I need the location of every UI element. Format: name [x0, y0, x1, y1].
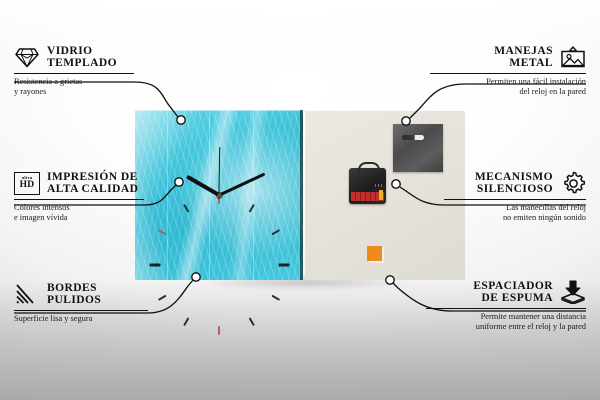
callout-desc-line1: Colores intensos	[14, 203, 144, 213]
hanger-slot	[402, 135, 424, 140]
callout-desc-line2: del reloj en la pared	[430, 87, 586, 97]
callout-title-line1: VIDRIO	[47, 45, 93, 57]
callout-desc-line2: y rayones	[14, 87, 134, 97]
clock-mechanism	[349, 168, 386, 204]
callout-rule	[444, 199, 586, 200]
callout-title-line1: BORDES	[47, 282, 97, 294]
wall-hanger-picture-icon	[560, 44, 586, 70]
diamond-icon	[14, 44, 40, 70]
product-image	[135, 110, 465, 280]
callout-desc-line2: e imagen vívida	[14, 213, 144, 223]
callout-rule	[14, 199, 144, 200]
callout-mecanismo-silencioso[interactable]: MECANISMO SILENCIOSO Las manecillas del …	[444, 170, 586, 223]
callout-desc-line1: Resistencia a grietas	[14, 77, 134, 87]
mechanism-label	[375, 184, 383, 187]
callout-title-line2: DE ESPUMA	[482, 292, 553, 304]
clock-hands	[135, 110, 303, 280]
callout-rule	[14, 310, 148, 311]
callout-title-line2: TEMPLADO	[47, 57, 117, 69]
callout-title-line2: PULIDOS	[47, 294, 101, 306]
callout-vidrio-templado[interactable]: VIDRIO TEMPLADO Resistencia a grietas y …	[14, 44, 134, 97]
clock-face-panel	[135, 110, 303, 280]
second-hand	[218, 147, 220, 199]
callout-desc-line1: Superficie lisa y segura	[14, 314, 148, 324]
callout-bordes-pulidos[interactable]: BORDES PULIDOS Superficie lisa y segura	[14, 281, 148, 324]
callout-rule	[430, 73, 586, 74]
callout-title-line1: ESPACIADOR	[473, 280, 553, 292]
callout-title-line1: MECANISMO	[475, 171, 553, 183]
clock-back-panel	[305, 110, 465, 280]
callout-manejas-metal[interactable]: MANEJAS METAL Permiten una fácil instala…	[430, 44, 586, 97]
callout-desc-line1: Las manecillas del reloj	[444, 203, 586, 213]
callout-rule	[426, 308, 586, 309]
polished-edges-icon	[14, 281, 40, 307]
minute-hand	[218, 173, 265, 197]
battery	[351, 192, 384, 201]
callout-title-line1: MANEJAS	[494, 45, 553, 57]
callout-rule	[14, 73, 134, 74]
hour-hand	[186, 175, 220, 197]
infographic-stage: VIDRIO TEMPLADO Resistencia a grietas y …	[0, 0, 600, 400]
callout-impresion-alta-calidad[interactable]: ultra HD IMPRESIÓN DE ALTA CALIDAD Color…	[14, 170, 144, 223]
callout-title-line2: ALTA CALIDAD	[47, 183, 138, 195]
gear-icon	[560, 170, 586, 196]
callout-desc-line2: no emiten ningún sonido	[444, 213, 586, 223]
mechanism-loop	[358, 162, 380, 173]
hd-badge-main-text: HD	[20, 181, 35, 191]
callout-desc-line1: Permiten una fácil instalación	[430, 77, 586, 87]
callout-title-line2: SILENCIOSO	[477, 183, 553, 195]
foam-spacer	[367, 246, 382, 261]
callout-espaciador-espuma[interactable]: ESPACIADOR DE ESPUMA Permite mantener un…	[426, 279, 586, 332]
callout-title-line1: IMPRESIÓN DE	[47, 171, 138, 183]
metal-hanger-plate	[393, 124, 443, 172]
callout-desc-line1: Permite mantener una distancia	[426, 312, 586, 322]
ultra-hd-badge-icon: ultra HD	[14, 170, 40, 196]
callout-desc-line2: uniforme entre el reloj y la pared	[426, 322, 586, 332]
clock-center-cap	[217, 193, 222, 198]
down-arrow-layer-icon	[560, 279, 586, 305]
callout-title-line2: METAL	[509, 57, 553, 69]
